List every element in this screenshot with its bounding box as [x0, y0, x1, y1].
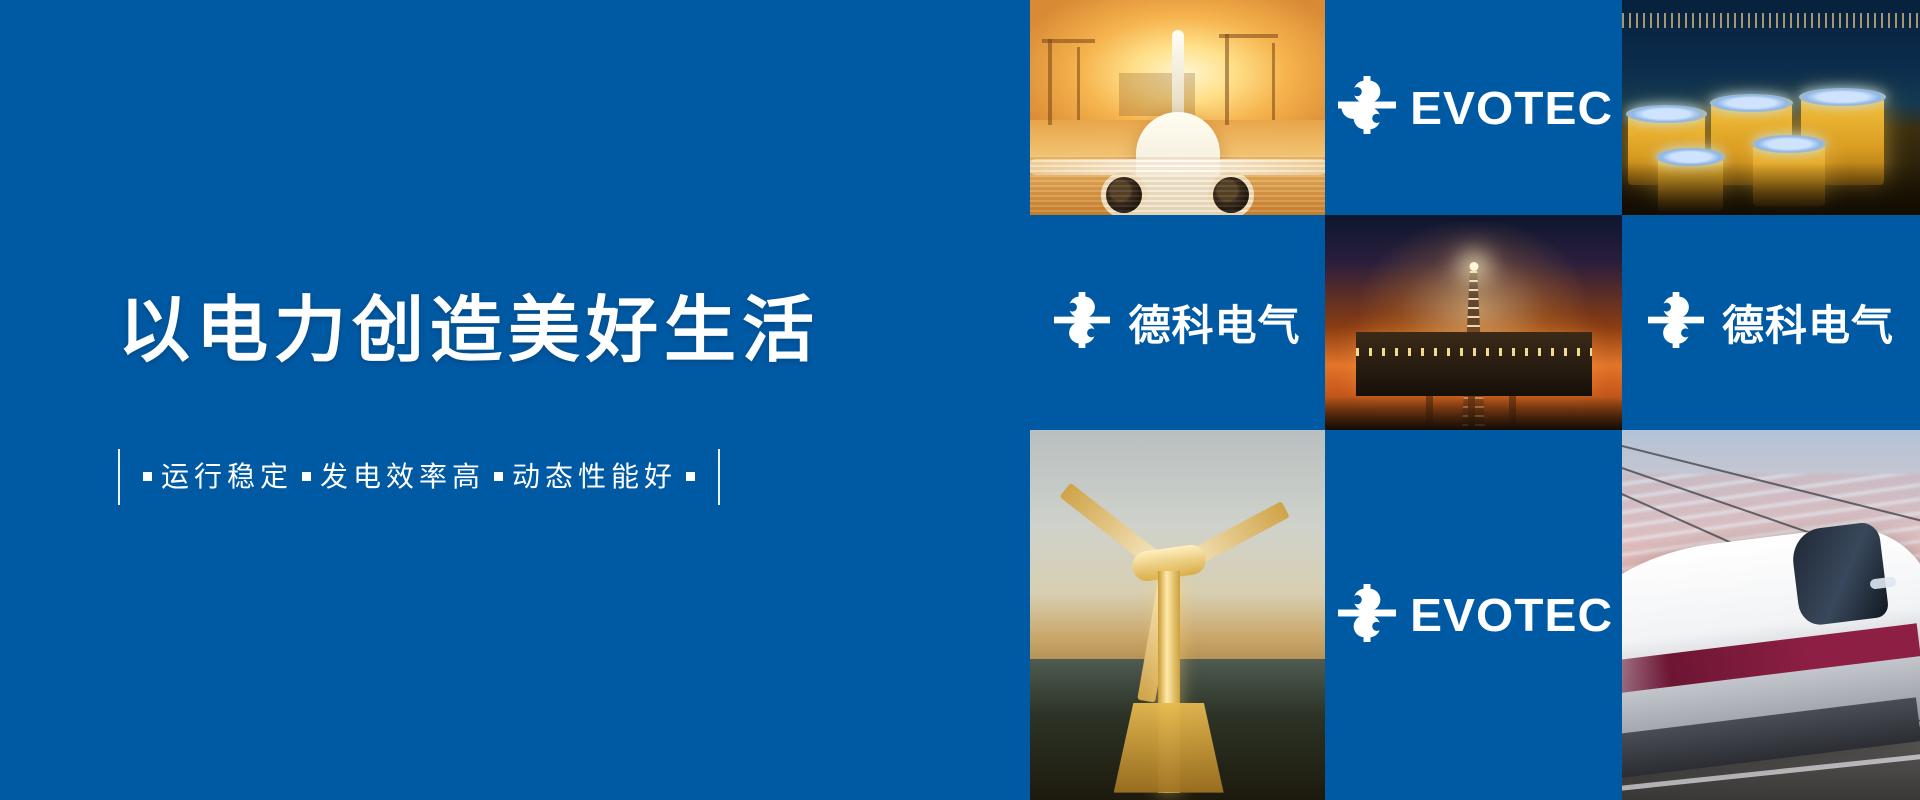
logo-deke-cn-left: 德科电气 — [1030, 215, 1325, 430]
evotec-pinwheel-icon — [1648, 292, 1704, 353]
evotec-pinwheel-icon — [1338, 76, 1396, 139]
media-logo-grid: EVOTEC — [1030, 0, 1920, 800]
photo-offshore-oil-rig — [1325, 215, 1622, 430]
deke-wordmark: 德科电气 — [1722, 292, 1894, 353]
hero-text-block: 以电力创造美好生活 运行稳定 发电效率高 动态性能好 — [0, 0, 1030, 800]
subline-rule-right — [718, 449, 720, 505]
evotec-pinwheel-icon — [1338, 584, 1396, 647]
bullet-dot-icon — [686, 472, 695, 481]
hero-subline: 运行稳定 发电效率高 动态性能好 — [118, 448, 1030, 506]
logo-evotec-en-bottom: EVOTEC — [1325, 430, 1622, 800]
subline-rule-left — [118, 449, 120, 505]
evotec-wordmark: EVOTEC — [1410, 81, 1613, 135]
deke-wordmark: 德科电气 — [1128, 292, 1300, 353]
logo-deke-cn-right: 德科电气 — [1622, 215, 1920, 430]
bullet-dot-icon — [302, 472, 311, 481]
evotec-pinwheel-icon — [1054, 292, 1110, 353]
page-title: 以电力创造美好生活 — [118, 294, 1030, 370]
subline-items: 运行稳定 发电效率高 动态性能好 — [120, 463, 718, 491]
photo-wind-turbine — [1030, 430, 1325, 800]
bullet-dot-icon — [494, 472, 503, 481]
photo-airport-cargo-port — [1030, 0, 1325, 215]
photo-high-speed-train — [1622, 430, 1920, 800]
subline-item-1: 发电效率高 — [320, 463, 485, 491]
subline-item-0: 运行稳定 — [161, 463, 293, 491]
promo-banner: 以电力创造美好生活 运行稳定 发电效率高 动态性能好 — [0, 0, 1920, 800]
photo-oil-storage-tanks — [1622, 0, 1920, 215]
subline-item-2: 动态性能好 — [512, 463, 677, 491]
bullet-dot-icon — [143, 472, 152, 481]
logo-evotec-en-top: EVOTEC — [1325, 0, 1622, 215]
evotec-wordmark: EVOTEC — [1410, 588, 1613, 642]
